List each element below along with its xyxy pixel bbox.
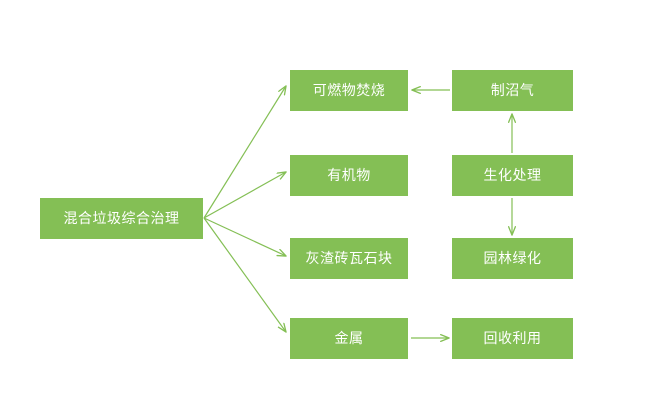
node-ash-brick-tile-stone-label: 灰渣砖瓦石块 bbox=[306, 252, 393, 266]
node-source[interactable]: 混合垃圾综合治理 bbox=[40, 198, 203, 239]
node-landscaping-label: 园林绿化 bbox=[484, 252, 542, 266]
node-source-label: 混合垃圾综合治理 bbox=[64, 212, 180, 226]
node-recycling-reuse-label: 回收利用 bbox=[484, 332, 542, 346]
edge-source-to-metal bbox=[204, 218, 286, 332]
node-combustible-incineration-label: 可燃物焚烧 bbox=[313, 84, 386, 98]
node-metal-label: 金属 bbox=[335, 332, 364, 346]
node-biochemical-treatment-label: 生化处理 bbox=[484, 169, 542, 183]
node-metal[interactable]: 金属 bbox=[290, 318, 408, 359]
node-ash-brick-tile-stone[interactable]: 灰渣砖瓦石块 bbox=[290, 238, 408, 279]
edge-source-to-ash-brick bbox=[204, 218, 286, 256]
node-landscaping[interactable]: 园林绿化 bbox=[452, 238, 573, 279]
flow-diagram: 混合垃圾综合治理 可燃物焚烧 有机物 灰渣砖瓦石块 金属 制沼气 生化处理 园林… bbox=[0, 0, 648, 416]
node-organic-matter[interactable]: 有机物 bbox=[290, 155, 408, 196]
node-combustible-incineration[interactable]: 可燃物焚烧 bbox=[290, 70, 408, 111]
edge-source-to-combustible bbox=[204, 86, 286, 218]
node-biogas-production-label: 制沼气 bbox=[491, 84, 535, 98]
node-biogas-production[interactable]: 制沼气 bbox=[452, 70, 573, 111]
node-organic-matter-label: 有机物 bbox=[327, 169, 371, 183]
node-recycling-reuse[interactable]: 回收利用 bbox=[452, 318, 573, 359]
node-biochemical-treatment[interactable]: 生化处理 bbox=[452, 155, 573, 196]
edge-source-to-organic bbox=[204, 172, 286, 218]
